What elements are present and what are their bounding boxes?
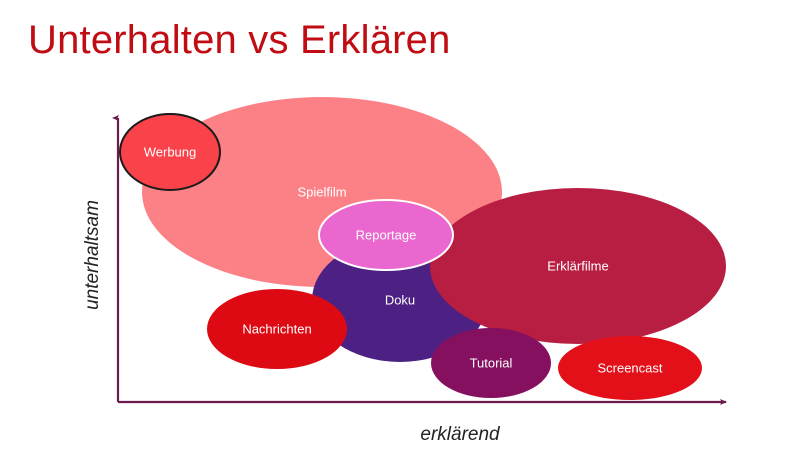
bubble-nachrichten[interactable]: Nachrichten (207, 289, 347, 369)
bubble-shape (120, 114, 220, 190)
bubble-shape (319, 200, 453, 270)
bubble-tutorial[interactable]: Tutorial (431, 328, 551, 398)
y-axis-label: unterhaltsam (82, 200, 103, 310)
bubble-group: SpielfilmDokuWerbungNachrichtenErklärfil… (120, 97, 726, 400)
bubble-werbung[interactable]: Werbung (120, 114, 220, 190)
slide-canvas: Unterhalten vs Erklären SpielfilmDokuWer… (0, 0, 800, 451)
bubble-shape (207, 289, 347, 369)
bubble-shape (431, 328, 551, 398)
bubble-erkl-rfilme[interactable]: Erklärfilme (430, 188, 726, 344)
bubble-screencast[interactable]: Screencast (558, 336, 702, 400)
bubble-shape (558, 336, 702, 400)
bubble-chart: SpielfilmDokuWerbungNachrichtenErklärfil… (0, 0, 800, 451)
x-axis-label: erklärend (420, 424, 501, 445)
bubble-shape (430, 188, 726, 344)
bubble-reportage[interactable]: Reportage (319, 200, 453, 270)
